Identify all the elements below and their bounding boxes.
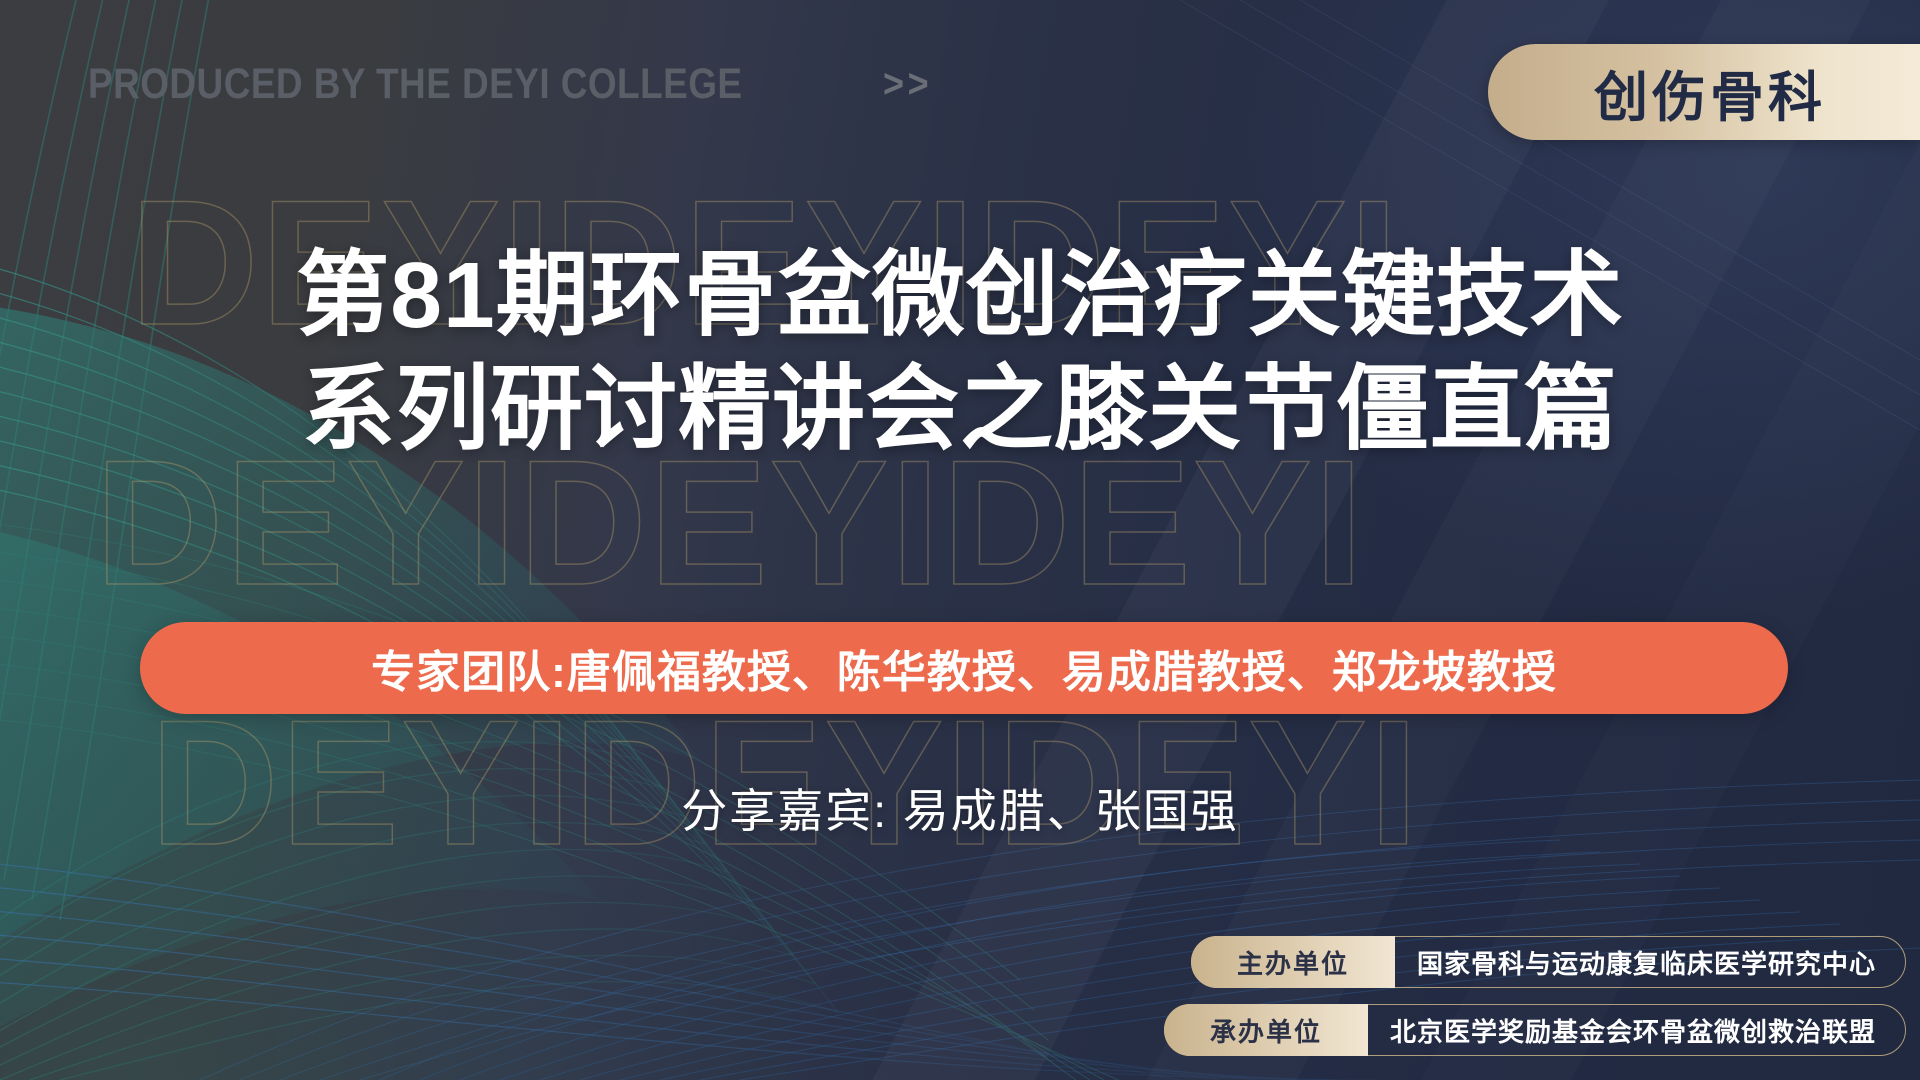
organizer-tag-label: 承办单位 [1210, 1012, 1322, 1049]
organizer-name: 北京医学奖励基金会环骨盆微创救治联盟 [1368, 1004, 1906, 1056]
double-chevron-icon: >> [883, 62, 932, 107]
deyi-watermark: DEYIDEYIDEYI DEYIDEYIDEYI DEYIDEYIDEYI [0, 0, 1920, 1080]
diagonal-band-overlay [0, 0, 1920, 1080]
produced-by-label: PRODUCED BY THE DEYI COLLEGE [88, 60, 742, 109]
title-line-1: 第81期环骨盆微创治疗关键技术 [0, 238, 1920, 352]
guest-speakers-line: 分享嘉宾: 易成腊、张国强 [0, 775, 1920, 841]
organizer-name-label: 北京医学奖励基金会环骨盆微创救治联盟 [1390, 1012, 1876, 1049]
expert-team-banner: 专家团队:唐佩福教授、陈华教授、易成腊教授、郑龙坡教授 [140, 622, 1788, 714]
organizer-tag: 承办单位 [1164, 1004, 1368, 1056]
category-badge-label: 创伤骨科 [1594, 53, 1826, 132]
page-title: 第81期环骨盆微创治疗关键技术 系列研讨精讲会之膝关节僵直篇 [0, 238, 1920, 467]
title-line-2: 系列研讨精讲会之膝关节僵直篇 [0, 352, 1920, 466]
organizer-tag-label: 主办单位 [1237, 944, 1349, 981]
expert-team-text: 专家团队:唐佩福教授、陈华教授、易成腊教授、郑龙坡教授 [371, 636, 1557, 700]
organizer-row: 承办单位 北京医学奖励基金会环骨盆微创救治联盟 [1164, 1004, 1906, 1056]
produced-by-header: PRODUCED BY THE DEYI COLLEGE >> [88, 60, 938, 109]
organizer-list: 主办单位 国家骨科与运动康复临床医学研究中心 承办单位 北京医学奖励基金会环骨盆… [1164, 936, 1906, 1056]
organizer-name-label: 国家骨科与运动康复临床医学研究中心 [1417, 944, 1876, 981]
poster-canvas: DEYIDEYIDEYI DEYIDEYIDEYI DEYIDEYIDEYI P… [0, 0, 1920, 1080]
background-line-pattern [0, 0, 1920, 1080]
organizer-name: 国家骨科与运动康复临床医学研究中心 [1395, 936, 1906, 988]
category-badge: 创伤骨科 [1488, 44, 1920, 140]
guest-speakers-text: 分享嘉宾: 易成腊、张国强 [681, 785, 1239, 837]
organizer-row: 主办单位 国家骨科与运动康复临床医学研究中心 [1191, 936, 1906, 988]
organizer-tag: 主办单位 [1191, 936, 1395, 988]
